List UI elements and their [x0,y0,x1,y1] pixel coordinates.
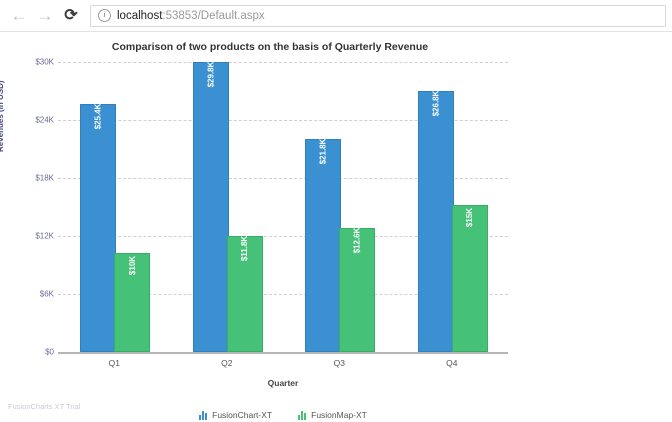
chart-legend: FusionChart-XTFusionMap-XT [58,410,508,420]
x-axis-tick-label: Q3 [299,358,379,368]
x-axis-tick-label: Q1 [74,358,154,368]
bar-value-label: $11.8K [240,236,249,261]
bar-value-label: $26.8K [431,91,440,117]
bar-chart-icon [298,411,306,420]
bar[interactable]: $26.8K [418,91,454,352]
back-button[interactable]: ← [6,3,32,29]
x-axis-title: Quarter [58,378,508,388]
back-arrow-icon: ← [11,7,28,24]
gridline [58,62,508,63]
y-axis-tick-label: $12K [8,232,54,241]
bar[interactable]: $15K [452,205,488,352]
y-axis-tick-label: $30K [8,58,54,67]
watermark: FusionCharts XT Trial [8,402,80,411]
chart-title: Comparison of two products on the basis … [0,41,540,53]
legend-item[interactable]: FusionChart-XT [199,410,272,420]
y-axis-ticks: $0$6K$12K$18K$24K$30K [4,62,54,352]
address-bar[interactable]: i localhost:53853/Default.aspx [90,5,666,27]
bar-value-label: $12.6K [353,228,362,254]
bar-value-label: $21.8K [319,139,328,165]
bar[interactable]: $12.6K [339,228,375,352]
bar-value-label: $10K [128,256,137,275]
y-axis-tick-label: $6K [8,290,54,299]
chart-container: Comparison of two products on the basis … [0,32,672,422]
y-axis-tick-label: $24K [8,116,54,125]
reload-button[interactable]: ⟳ [58,3,84,29]
info-icon[interactable]: i [98,9,111,22]
bar[interactable]: $25.4K [80,104,116,352]
bar[interactable]: $10K [114,253,150,352]
url-host: localhost [117,10,162,22]
bar-value-label: $15K [465,208,474,227]
legend-label: FusionMap-XT [311,410,367,420]
forward-button[interactable]: → [32,3,58,29]
y-axis-tick-label: $0 [8,348,54,357]
x-axis-line [58,352,508,354]
x-axis-tick-label: Q4 [412,358,492,368]
plot-area: $25.4K$10K$29.8K$11.8K$21.8K$12.6K$26.8K… [58,62,508,352]
bar-chart-icon [199,411,207,420]
bar-value-label: $25.4K [94,104,103,130]
bar[interactable]: $11.8K [227,236,263,352]
bar[interactable]: $21.8K [305,139,341,352]
legend-item[interactable]: FusionMap-XT [298,410,367,420]
url-path: :53853/Default.aspx [162,10,264,22]
bar[interactable]: $29.8K [193,62,229,352]
url-text: localhost:53853/Default.aspx [117,10,265,22]
legend-label: FusionChart-XT [212,410,272,420]
reload-icon: ⟳ [64,8,77,24]
y-axis-tick-label: $18K [8,174,54,183]
bar-value-label: $29.8K [206,62,215,88]
forward-arrow-icon: → [37,7,54,24]
x-axis-tick-label: Q2 [187,358,267,368]
browser-toolbar: ← → ⟳ i localhost:53853/Default.aspx [0,0,672,31]
